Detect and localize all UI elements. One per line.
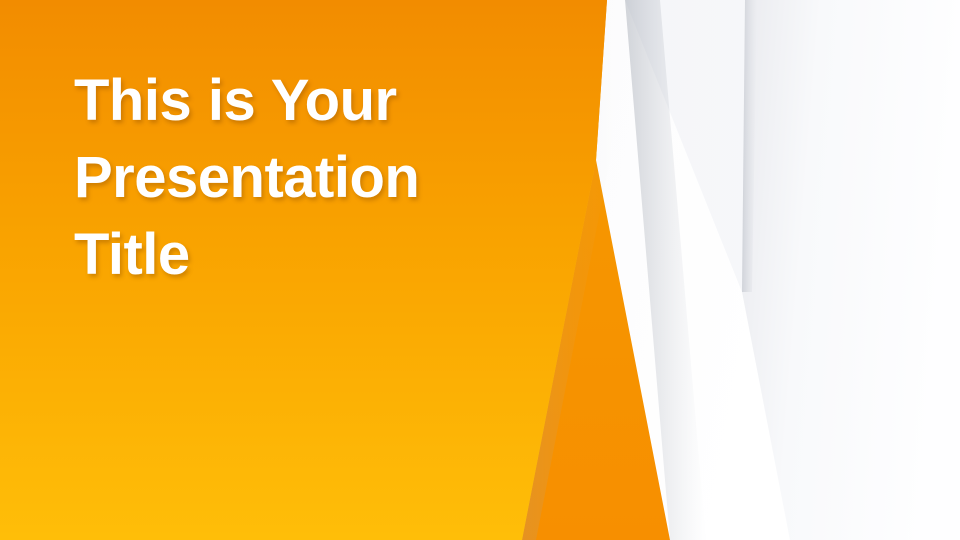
page-title: This is Your Presentation Title [74,62,504,293]
title-block: This is Your Presentation Title [74,62,504,293]
presentation-slide: This is Your Presentation Title [0,0,960,540]
paper-sheet-center [742,0,960,540]
